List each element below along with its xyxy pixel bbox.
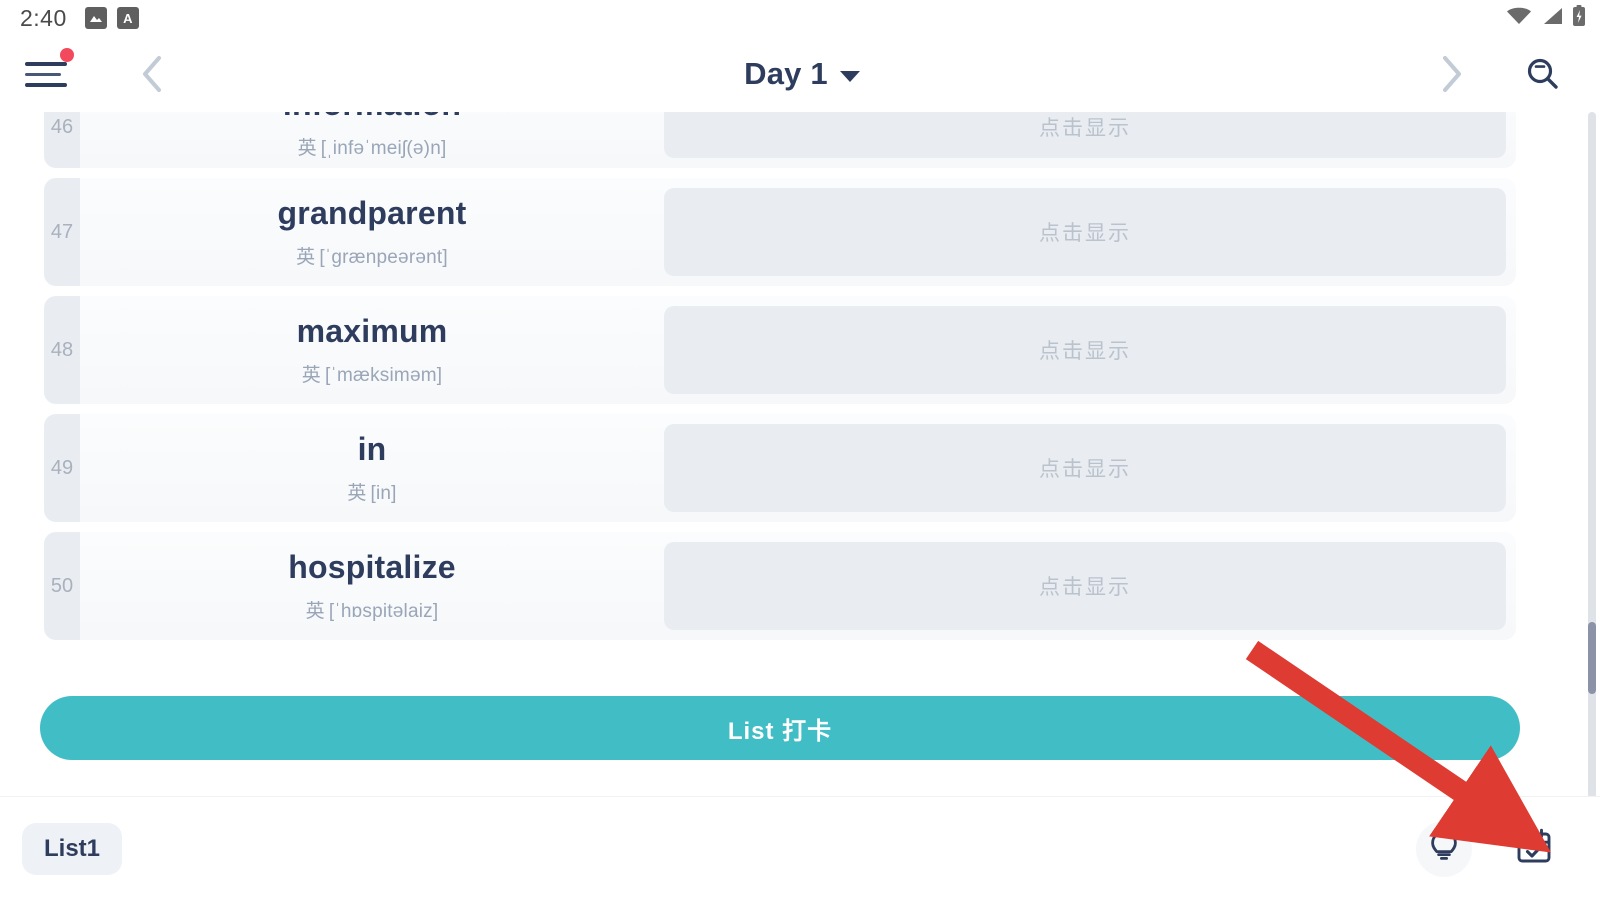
phonetic-text: [in] — [371, 483, 397, 504]
hamburger-menu-button[interactable] — [22, 46, 78, 102]
row-word-block[interactable]: information 英[ˌinfəˈmeiʃ(ə)n] — [80, 112, 664, 168]
table-row[interactable]: 50 hospitalize 英[ˈhɒspitəlaiz] 点击显示 — [44, 532, 1560, 640]
lightbulb-button[interactable] — [1416, 821, 1472, 877]
status-bar: 2:40 A — [0, 0, 1600, 36]
row-card[interactable]: 47 grandparent 英[ˈɡrænpeərənt] 点击显示 — [44, 178, 1516, 286]
row-word-block[interactable]: hospitalize 英[ˈhɒspitəlaiz] — [80, 532, 664, 640]
list-chip[interactable]: List1 — [22, 823, 122, 875]
day-selector[interactable]: Day 1 — [176, 56, 1428, 92]
phonetic-text: [ˈɡrænpeərənt] — [319, 247, 447, 268]
answer-reveal-panel[interactable]: 点击显示 — [664, 112, 1506, 158]
word-phonetic: 英[ˌinfəˈmeiʃ(ə)n] — [298, 133, 447, 160]
previous-day-button[interactable] — [130, 51, 176, 97]
notification-badge-dot — [60, 48, 74, 62]
row-word-block[interactable]: maximum 英[ˈmæksiməm] — [80, 296, 664, 404]
battery-charging-icon — [1572, 5, 1586, 32]
row-index: 50 — [44, 532, 80, 640]
row-word-block[interactable]: in 英[in] — [80, 414, 664, 522]
word-text: grandparent — [278, 195, 467, 232]
row-word-block[interactable]: grandparent 英[ˈɡrænpeərənt] — [80, 178, 664, 286]
phonetic-lang-label: 英 — [347, 483, 366, 504]
row-card[interactable]: 48 maximum 英[ˈmæksiməm] 点击显示 — [44, 296, 1516, 404]
chevron-down-icon — [840, 71, 860, 82]
status-left-icons: A — [85, 7, 139, 29]
answer-reveal-panel[interactable]: 点击显示 — [664, 542, 1506, 630]
row-card[interactable]: 46 information 英[ˌinfəˈmeiʃ(ə)n] 点击显示 — [44, 112, 1516, 168]
app-bar: Day 1 — [0, 36, 1600, 112]
calendar-check-icon — [1515, 827, 1553, 870]
phonetic-text: [ˌinfəˈmeiʃ(ə)n] — [321, 138, 447, 159]
word-phonetic: 英[ˈɡrænpeərənt] — [296, 242, 448, 269]
phonetic-text: [ˈmæksiməm] — [325, 365, 442, 386]
word-list[interactable]: 46 information 英[ˌinfəˈmeiʃ(ə)n] 点击显示 47… — [0, 112, 1560, 672]
table-row[interactable]: 46 information 英[ˌinfəˈmeiʃ(ə)n] 点击显示 — [44, 112, 1560, 168]
search-icon — [1523, 54, 1563, 94]
answer-reveal-panel[interactable]: 点击显示 — [664, 188, 1506, 276]
chevron-right-icon — [1438, 54, 1464, 94]
bottom-bar: List1 — [0, 796, 1600, 900]
row-index: 49 — [44, 414, 80, 522]
word-text: in — [358, 431, 387, 468]
word-phonetic: 英[ˈhɒspitəlaiz] — [306, 596, 439, 623]
row-index: 48 — [44, 296, 80, 404]
row-card[interactable]: 49 in 英[in] 点击显示 — [44, 414, 1516, 522]
word-text: hospitalize — [288, 549, 456, 586]
scrollbar-track[interactable] — [1588, 112, 1596, 802]
chevron-left-icon — [140, 54, 166, 94]
hamburger-line — [25, 62, 67, 66]
search-button[interactable] — [1520, 51, 1566, 97]
answer-reveal-panel[interactable]: 点击显示 — [664, 306, 1506, 394]
table-row[interactable]: 48 maximum 英[ˈmæksiməm] 点击显示 — [44, 296, 1560, 404]
app-root: 2:40 A — [0, 0, 1600, 900]
cta-container: List 打卡 — [0, 696, 1560, 760]
hamburger-line — [25, 73, 61, 76]
status-right-icons — [1506, 5, 1586, 32]
word-text: maximum — [297, 313, 448, 350]
photo-icon — [85, 7, 107, 29]
table-row[interactable]: 47 grandparent 英[ˈɡrænpeərənt] 点击显示 — [44, 178, 1560, 286]
row-card[interactable]: 50 hospitalize 英[ˈhɒspitəlaiz] 点击显示 — [44, 532, 1516, 640]
wifi-icon — [1506, 6, 1532, 31]
word-text: information — [283, 112, 461, 123]
word-phonetic: 英[ˈmæksiməm] — [302, 360, 442, 387]
status-clock: 2:40 — [20, 5, 67, 32]
hamburger-line — [25, 83, 67, 87]
calendar-checkin-button[interactable] — [1506, 821, 1562, 877]
page-title: Day 1 — [744, 56, 828, 92]
phonetic-lang-label: 英 — [296, 247, 315, 268]
phonetic-lang-label: 英 — [302, 365, 321, 386]
lightbulb-icon — [1427, 828, 1461, 869]
phonetic-lang-label: 英 — [306, 601, 325, 622]
row-index: 47 — [44, 178, 80, 286]
text-input-icon: A — [117, 7, 139, 29]
phonetic-text: [ˈhɒspitəlaiz] — [329, 601, 438, 622]
list-checkin-button[interactable]: List 打卡 — [40, 696, 1520, 760]
next-day-button[interactable] — [1428, 51, 1474, 97]
word-phonetic: 英[in] — [347, 478, 396, 505]
phonetic-lang-label: 英 — [298, 138, 317, 159]
answer-reveal-panel[interactable]: 点击显示 — [664, 424, 1506, 512]
row-index: 46 — [44, 112, 80, 168]
cellular-signal-icon — [1541, 6, 1563, 31]
scrollbar-thumb[interactable] — [1588, 622, 1596, 694]
table-row[interactable]: 49 in 英[in] 点击显示 — [44, 414, 1560, 522]
